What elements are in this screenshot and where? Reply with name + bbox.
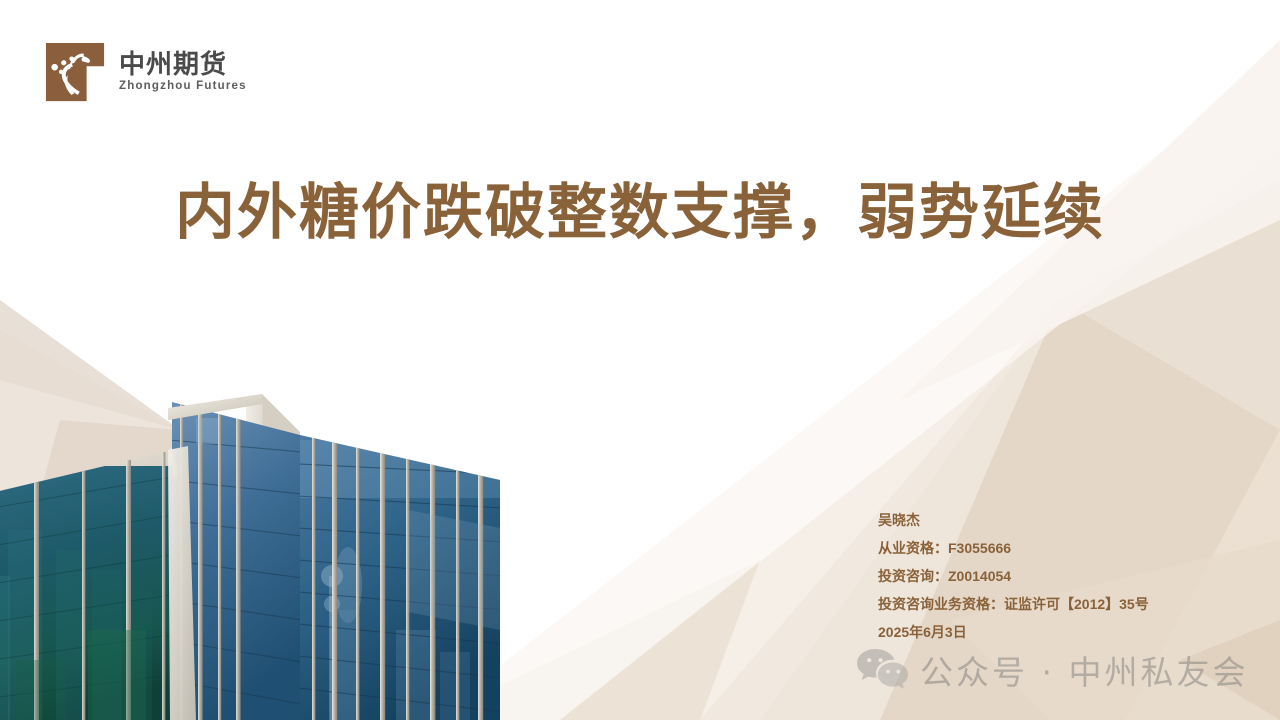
brand-name-cn: 中州期货 — [119, 50, 247, 78]
page-title: 内外糖价跌破整数支撑，弱势延续 — [0, 178, 1280, 249]
brand-wordmark: 中州期货 Zhongzhou Futures — [119, 48, 247, 95]
author-credentials-block: 吴晓杰 从业资格：F3055666 投资咨询：Z0014054 投资咨询业务资格… — [878, 506, 1149, 646]
office-building-photo — [0, 380, 500, 720]
wechat-icon — [856, 647, 910, 693]
report-date: 2025年6月3日 — [878, 618, 1149, 646]
wechat-watermark: 公众号 · 中州私友会 — [856, 646, 1248, 694]
presentation-slide: 中州期货 Zhongzhou Futures 内外糖价跌破整数支撑，弱势延续 吴… — [0, 0, 1280, 720]
wechat-watermark-label: 公众号 · 中州私友会 — [920, 646, 1248, 694]
leopard-mark-icon — [44, 41, 106, 103]
credential-business-qualification: 投资咨询业务资格：证监许可【2012】35号 — [878, 590, 1149, 618]
brand-name-en: Zhongzhou Futures — [119, 78, 247, 95]
credential-investment-advisory: 投资咨询：Z0014054 — [878, 562, 1149, 590]
author-name: 吴晓杰 — [878, 506, 1149, 534]
credential-practice-license: 从业资格：F3055666 — [878, 534, 1149, 562]
brand-logo: 中州期货 Zhongzhou Futures — [44, 41, 247, 103]
